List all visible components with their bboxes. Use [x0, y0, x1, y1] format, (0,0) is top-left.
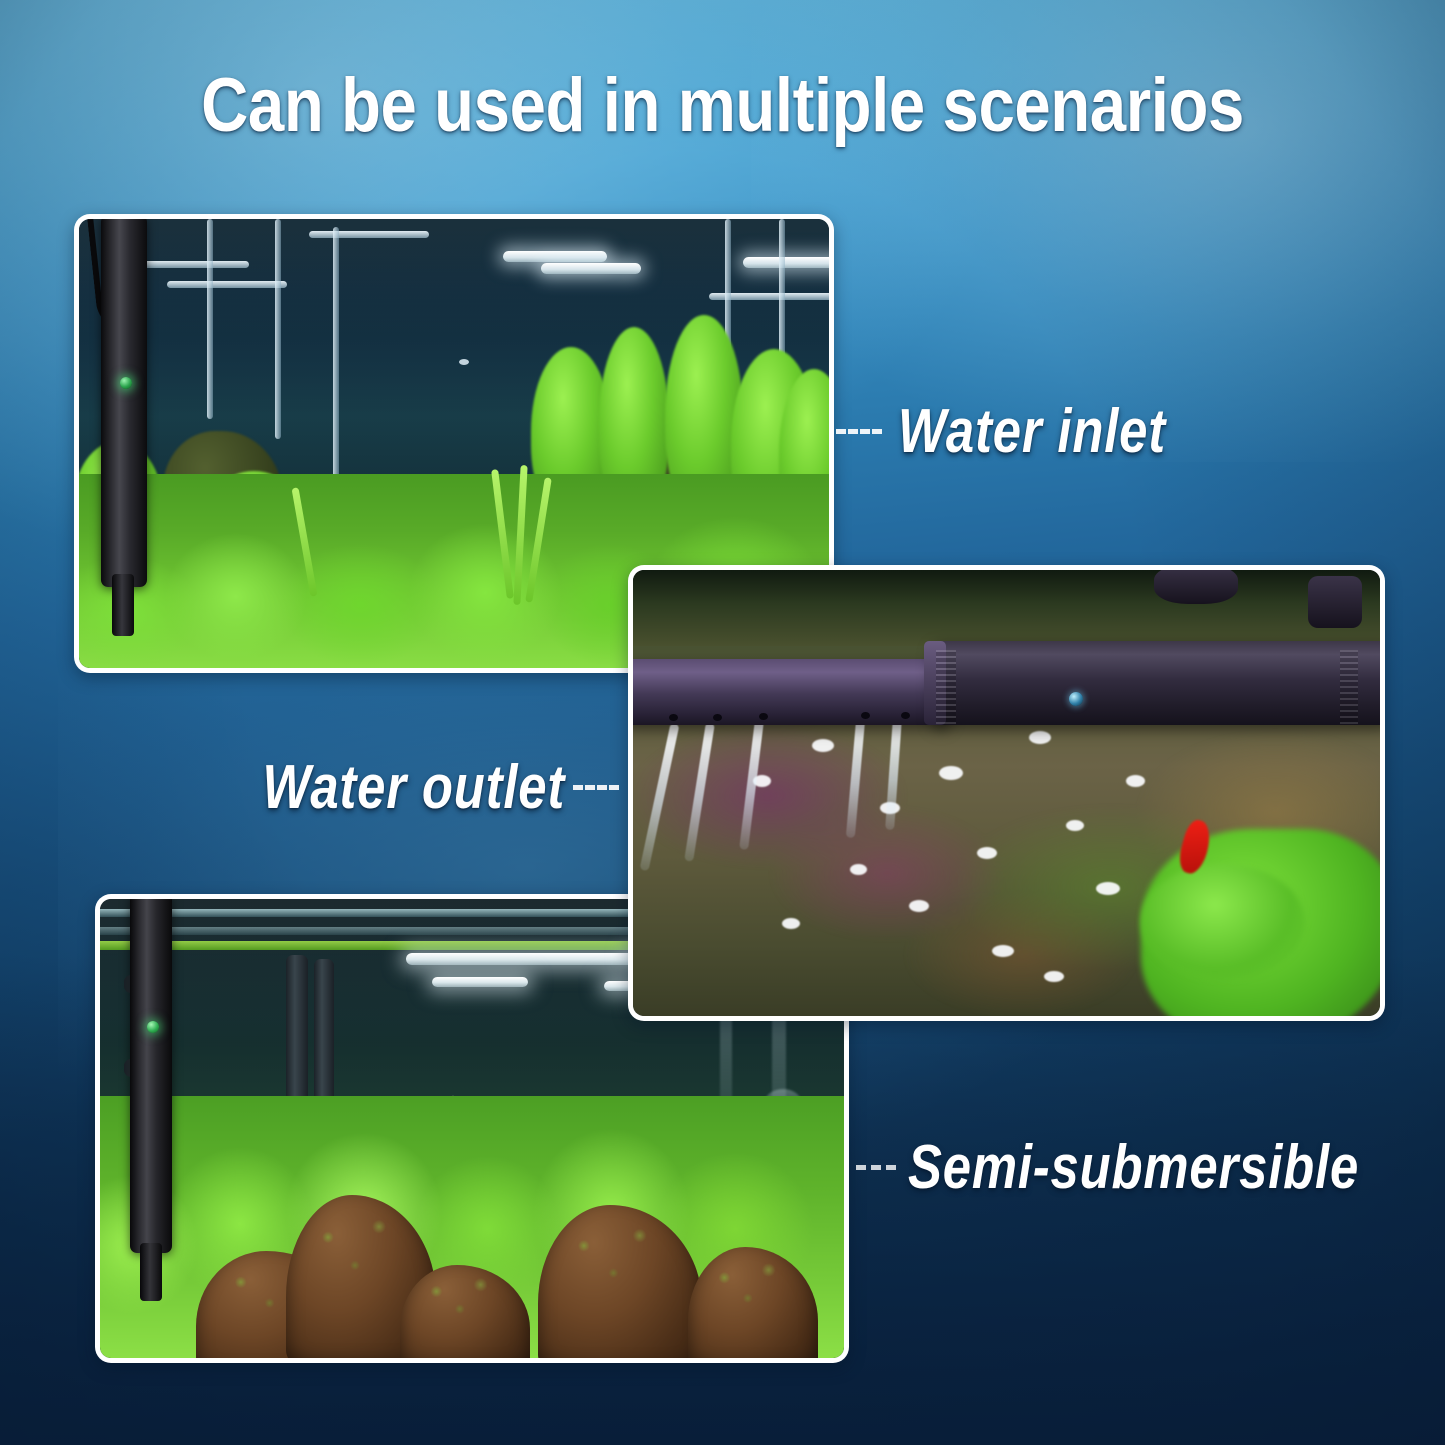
filter-tube-ridges [936, 650, 956, 724]
water-sparkle [992, 945, 1014, 957]
photo-middle-inner [633, 570, 1380, 1016]
green-plant-mass [1141, 864, 1305, 980]
outlet-hole [759, 713, 768, 720]
callout-water-inlet-label: Water inlet [898, 396, 1166, 467]
tank-led-light [503, 251, 607, 262]
tank-rail [309, 231, 429, 238]
outlet-hole [901, 712, 910, 719]
leader-line-dashed [836, 429, 882, 434]
power-indicator-led-icon [120, 377, 132, 389]
filter-tube-horizontal-right [932, 641, 1380, 725]
filter-tube-vertical [130, 899, 172, 1253]
filter-tube-tip [112, 574, 134, 636]
filter-tube-vertical [101, 219, 147, 587]
tube-elbow [1308, 576, 1362, 628]
tank-top-shadow-band [633, 570, 1380, 646]
tank-post [275, 219, 281, 439]
product-infographic: Can be used in multiple scenarios [0, 0, 1445, 1445]
tank-led-light [541, 263, 641, 274]
outlet-hole [669, 714, 678, 721]
callout-semi-submersible: Semi-submersible [856, 1132, 1445, 1203]
tank-post [207, 219, 213, 419]
callout-semi-submersible-label: Semi-submersible [908, 1132, 1359, 1203]
power-indicator-led-icon [147, 1021, 159, 1033]
power-indicator-led-icon [1069, 692, 1083, 706]
page-title: Can be used in multiple scenarios [101, 62, 1344, 149]
filter-tube-ridges [1340, 650, 1358, 724]
fish [459, 359, 469, 365]
filter-tube-tip [140, 1243, 162, 1301]
tank-led-light [432, 977, 528, 987]
tank-rail [167, 281, 287, 288]
leader-line-dashed [573, 785, 619, 790]
water-sparkle [977, 847, 997, 859]
tank-post [333, 227, 339, 477]
outlet-hole [861, 712, 870, 719]
callout-water-inlet: Water inlet [836, 396, 1225, 467]
water-sparkle [1029, 731, 1051, 744]
tank-led-light [743, 257, 829, 268]
callout-water-outlet: Water outlet [196, 752, 619, 823]
water-sparkle [1066, 820, 1084, 831]
callout-water-outlet-label: Water outlet [262, 752, 565, 823]
turtle-tank-spray-scene [633, 570, 1380, 1016]
leader-line-dashed [856, 1165, 896, 1170]
tube-fitting [1154, 570, 1238, 604]
outlet-hole [713, 714, 722, 721]
tank-led-light [406, 953, 636, 965]
photo-middle [628, 565, 1385, 1021]
